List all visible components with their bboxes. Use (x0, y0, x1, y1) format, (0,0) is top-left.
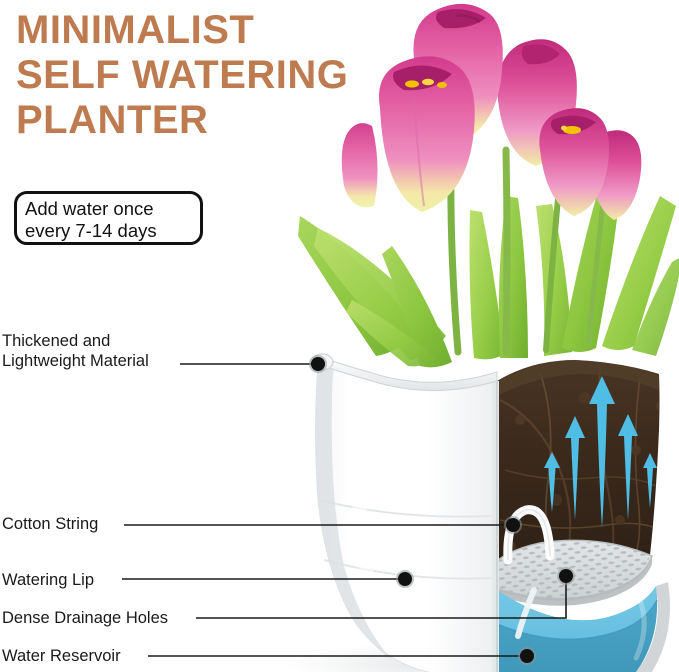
callout-label-thickened-material-line2: Lightweight Material (2, 351, 149, 371)
stem-2 (506, 150, 507, 352)
page-title: MINIMALIST SELF WATERING PLANTER (16, 8, 446, 143)
callout-label-thickened-material-line1: Thickened and (2, 331, 149, 351)
title-line-3: PLANTER (16, 98, 446, 143)
infographic-canvas: MINIMALIST SELF WATERING PLANTER Add wat… (0, 0, 679, 672)
pot-front-wall (316, 364, 498, 672)
pot-body (311, 354, 499, 672)
callout-label-drainage-holes: Dense Drainage Holes (2, 608, 168, 628)
title-line-2: SELF WATERING (16, 53, 446, 98)
leaf-center-left (470, 210, 505, 359)
callout-label-watering-lip: Watering Lip (2, 570, 94, 590)
callout-label-cotton-string: Cotton String (2, 514, 98, 534)
callout-label-water-reservoir: Water Reservoir (2, 646, 121, 666)
watering-lip-bead (311, 354, 333, 370)
callout-label-thickened-material: Thickened and Lightweight Material (2, 331, 149, 371)
badge-line-2: every 7-14 days (25, 220, 200, 242)
watering-frequency-badge: Add water once every 7-14 days (14, 191, 203, 245)
title-line-1: MINIMALIST (16, 8, 446, 53)
pot-cut-edge (492, 381, 499, 672)
badge-line-1: Add water once (25, 198, 200, 220)
